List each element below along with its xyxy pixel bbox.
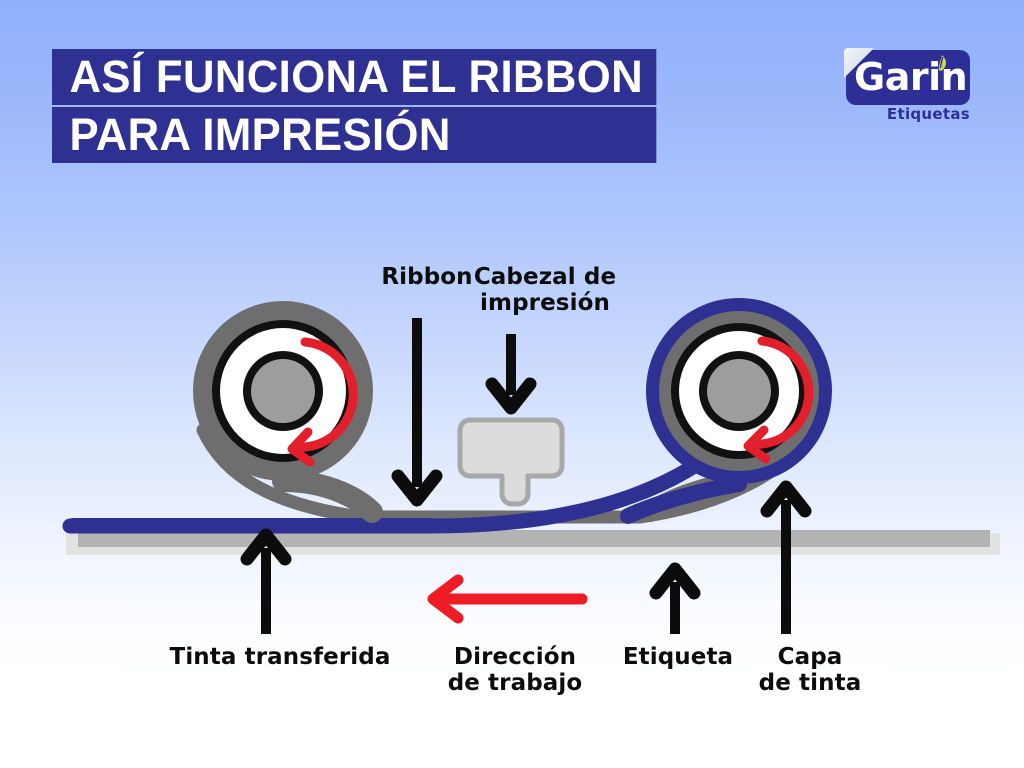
page-title: ASÍ FUNCIONA EL RIBBON PARA IMPRESIÓN [52, 49, 675, 163]
label-ink-layer: Capa de tinta [735, 644, 885, 696]
brand-logo: Garin Etiquetas [838, 48, 974, 138]
label-transferred-ink: Tinta transferida [135, 644, 425, 670]
callout-arrow-label-media [656, 569, 694, 634]
callout-arrow-ribbon [398, 318, 436, 500]
media-strip [66, 530, 1000, 555]
callout-arrow-print-head [492, 334, 530, 408]
takeup-core [707, 359, 771, 423]
logo-tagline: Etiquetas [846, 105, 974, 123]
leaf-icon [934, 54, 950, 76]
title-line-1: ASÍ FUNCIONA EL RIBBON [52, 49, 657, 105]
label-print-head: Cabezal de impresión [435, 264, 655, 316]
callout-arrow-transferred-ink [247, 535, 285, 634]
work-direction-arrow-icon [433, 580, 582, 618]
print-head [460, 420, 562, 504]
infographic-canvas: ASÍ FUNCIONA EL RIBBON PARA IMPRESIÓN Ga… [0, 0, 1024, 768]
supply-roll [193, 301, 373, 512]
title-line-2: PARA IMPRESIÓN [52, 107, 657, 163]
callout-arrow-ink-layer [767, 487, 805, 634]
supply-core [251, 359, 315, 423]
transferred-ink-band [66, 518, 436, 533]
print-head-body [460, 420, 562, 504]
